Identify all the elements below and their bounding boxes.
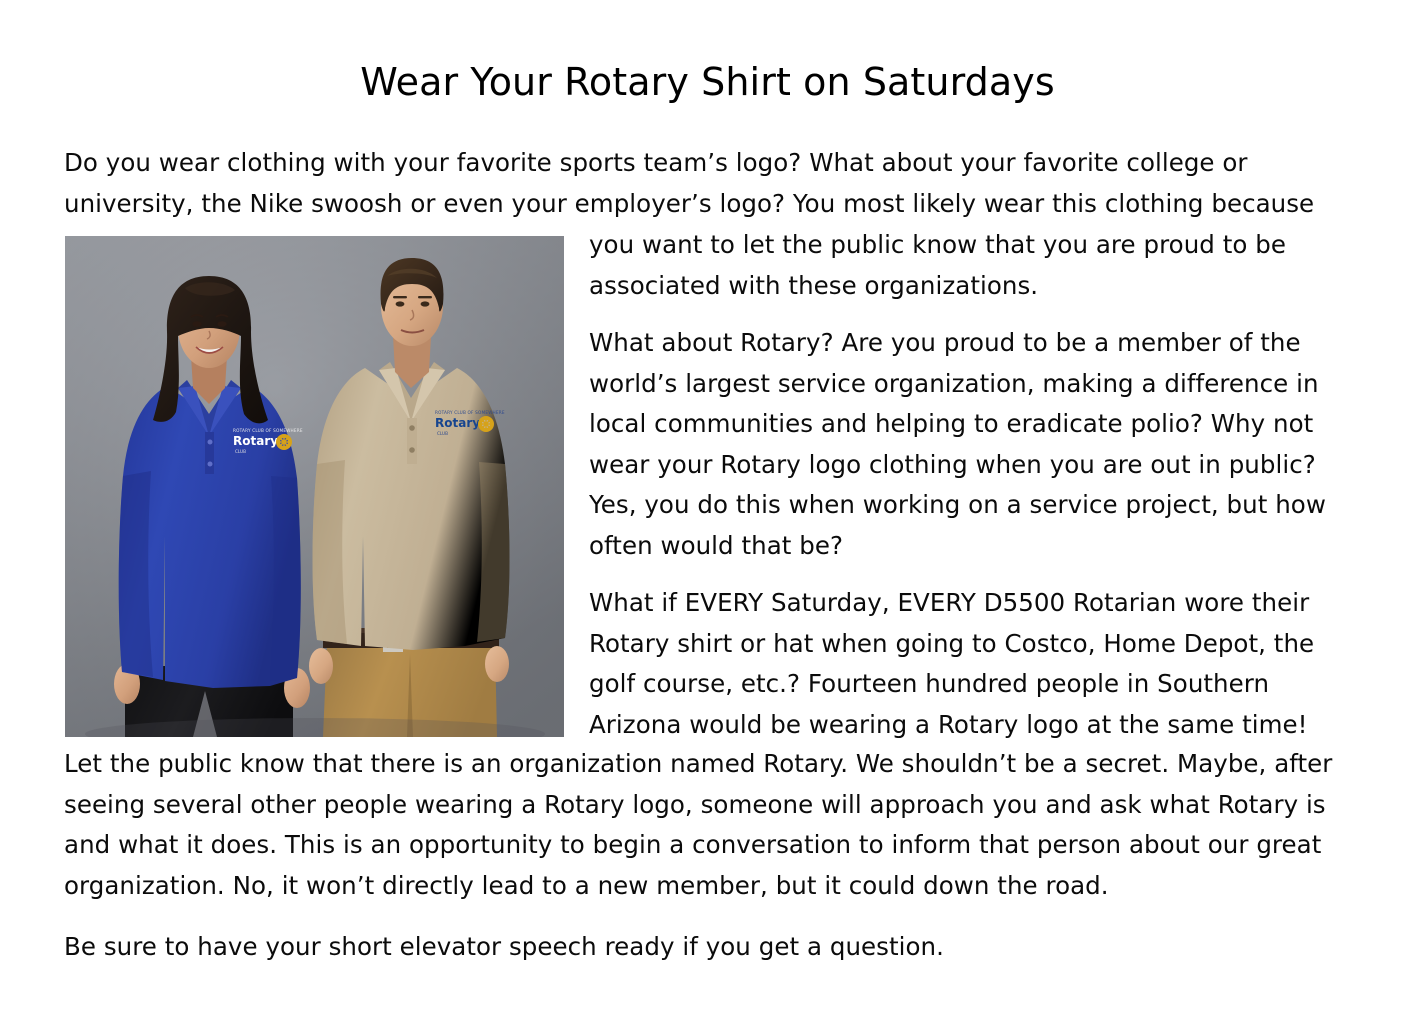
- svg-text:ROTARY CLUB OF SOMEWHERE: ROTARY CLUB OF SOMEWHERE: [233, 428, 303, 433]
- right-paragraph-2: What about Rotary? Are you proud to be a…: [589, 323, 1349, 566]
- bottom-paragraph-1: Let the public know that there is an org…: [64, 744, 1354, 906]
- right-paragraph-3: What if EVERY Saturday, EVERY D5500 Rota…: [589, 583, 1349, 745]
- svg-text:CLUB: CLUB: [235, 449, 246, 454]
- svg-text:Rotary: Rotary: [435, 416, 480, 430]
- rotary-shirts-photo: ROTARY CLUB OF SOMEWHERE Rotary CLUB: [65, 236, 564, 737]
- page-title: Wear Your Rotary Shirt on Saturdays: [0, 62, 1415, 104]
- bottom-text-block: Let the public know that there is an org…: [64, 744, 1354, 968]
- svg-text:Rotary: Rotary: [233, 434, 278, 448]
- svg-text:ROTARY CLUB OF SOMEWHERE: ROTARY CLUB OF SOMEWHERE: [435, 410, 505, 415]
- right-paragraph-1: you want to let the public know that you…: [589, 225, 1349, 306]
- intro-paragraph: Do you wear clothing with your favorite …: [64, 143, 1349, 224]
- document-page: Wear Your Rotary Shirt on Saturdays Do y…: [0, 0, 1415, 1014]
- right-column-text: you want to let the public know that you…: [589, 225, 1349, 745]
- photo-illustration: ROTARY CLUB OF SOMEWHERE Rotary CLUB: [65, 236, 564, 737]
- bottom-paragraph-2: Be sure to have your short elevator spee…: [64, 927, 1354, 968]
- svg-text:CLUB: CLUB: [437, 431, 448, 436]
